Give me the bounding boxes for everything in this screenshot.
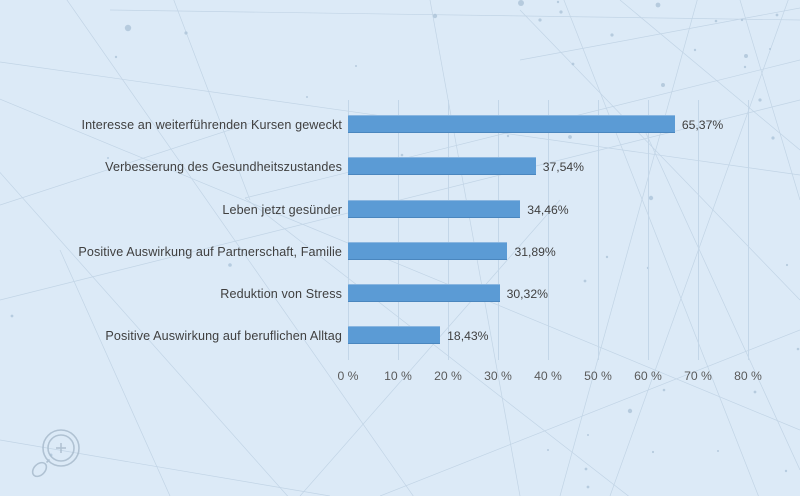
bar-value-label: 31,89% <box>514 245 555 259</box>
category-label: Positive Auswirkung auf Partnerschaft, F… <box>78 245 342 259</box>
category-label: Leben jetzt gesünder <box>222 203 342 217</box>
magnifier-zoom-in-icon[interactable] <box>22 420 90 488</box>
bar-chart: Interesse an weiterführenden Kursen gewe… <box>0 0 800 496</box>
gridline-50 <box>598 100 599 360</box>
gridline-80 <box>748 100 749 360</box>
x-tick-label: 80 % <box>734 369 762 383</box>
x-tick-label: 60 % <box>634 369 662 383</box>
bar[interactable] <box>348 242 507 260</box>
category-label: Verbesserung des Gesundheitszustandes <box>105 160 342 174</box>
gridline-0 <box>348 100 349 360</box>
gridline-70 <box>698 100 699 360</box>
bar-value-label: 34,46% <box>527 203 568 217</box>
bar-value-label: 18,43% <box>447 329 488 343</box>
x-tick-label: 10 % <box>384 369 412 383</box>
bar-value-label: 65,37% <box>682 118 723 132</box>
x-tick-label: 40 % <box>534 369 562 383</box>
chart-screenshot: Interesse an weiterführenden Kursen gewe… <box>0 0 800 496</box>
gridline-10 <box>398 100 399 360</box>
x-tick-label: 70 % <box>684 369 712 383</box>
x-tick-label: 50 % <box>584 369 612 383</box>
gridline-40 <box>548 100 549 360</box>
x-tick-label: 30 % <box>484 369 512 383</box>
x-tick-label: 20 % <box>434 369 462 383</box>
bar[interactable] <box>348 284 500 302</box>
x-tick-label: 0 % <box>337 369 358 383</box>
bar[interactable] <box>348 326 440 344</box>
bar[interactable] <box>348 157 536 175</box>
gridline-30 <box>498 100 499 360</box>
category-label: Interesse an weiterführenden Kursen gewe… <box>81 118 342 132</box>
bar[interactable] <box>348 200 520 218</box>
gridline-60 <box>648 100 649 360</box>
gridline-20 <box>448 100 449 360</box>
category-label: Positive Auswirkung auf beruflichen Allt… <box>105 329 342 343</box>
bar-value-label: 37,54% <box>543 160 584 174</box>
category-label: Reduktion von Stress <box>220 287 342 301</box>
bar[interactable] <box>348 115 675 133</box>
bar-value-label: 30,32% <box>507 287 548 301</box>
